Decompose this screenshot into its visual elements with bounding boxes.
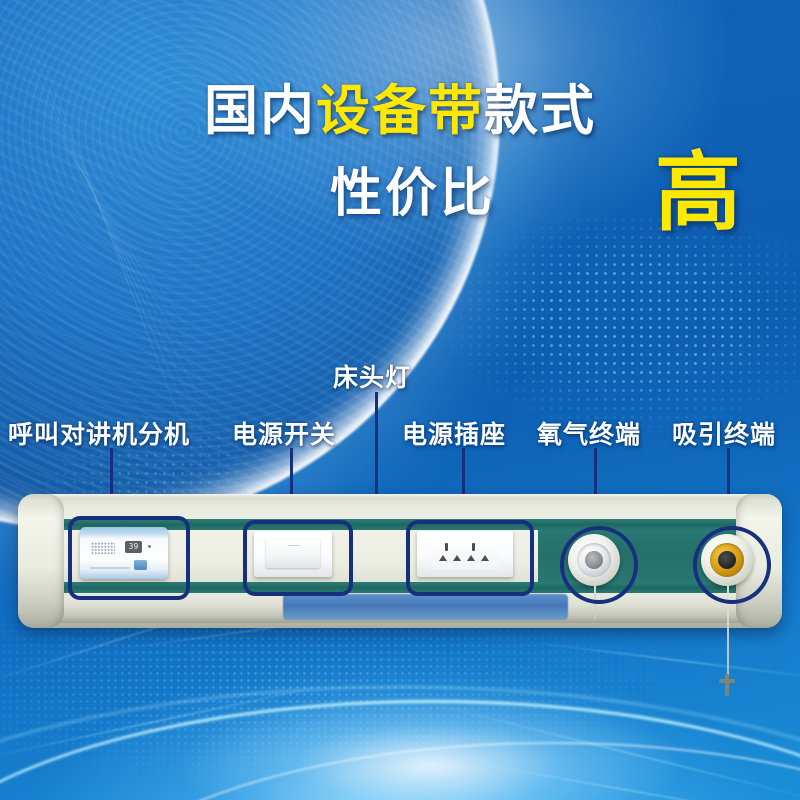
headline-part-3: 款式 — [484, 81, 596, 141]
callout-label-power-switch: 电源开关 — [232, 415, 336, 451]
headline-emphasis: 高 — [655, 150, 741, 236]
panel-glass-reflection — [283, 594, 568, 620]
handle-stem-icon — [725, 674, 729, 696]
highlight-box-intercom — [68, 516, 190, 600]
panel-endcap-left — [18, 494, 64, 628]
highlight-circle-suction — [693, 526, 771, 604]
headline-line-1: 国内设备带款式 — [0, 84, 800, 138]
banner-canvas: 国内设备带款式 性价比 高 呼叫对讲机分机 电源开关 床头灯 电源插座 氧气终端… — [0, 0, 800, 800]
cord-pull-handle[interactable] — [719, 674, 735, 696]
callout-label-power-socket: 电源插座 — [402, 415, 506, 451]
headline-part-2: 设备带 — [316, 81, 484, 141]
headline-line-2: 性价比 — [330, 168, 495, 220]
callout-label-suction: 吸引终端 — [672, 415, 776, 451]
bottom-glow — [180, 690, 680, 800]
callout-label-oxygen: 氧气终端 — [537, 415, 641, 451]
callout-label-intercom: 呼叫对讲机分机 — [8, 415, 190, 451]
highlight-box-power-socket — [406, 520, 534, 596]
headline-part-1: 国内 — [204, 81, 316, 141]
highlight-circle-oxygen — [560, 526, 638, 604]
callout-label-bed-lamp: 床头灯 — [333, 358, 411, 394]
highlight-box-power-switch — [243, 520, 353, 596]
handle-cross-icon — [719, 679, 735, 683]
